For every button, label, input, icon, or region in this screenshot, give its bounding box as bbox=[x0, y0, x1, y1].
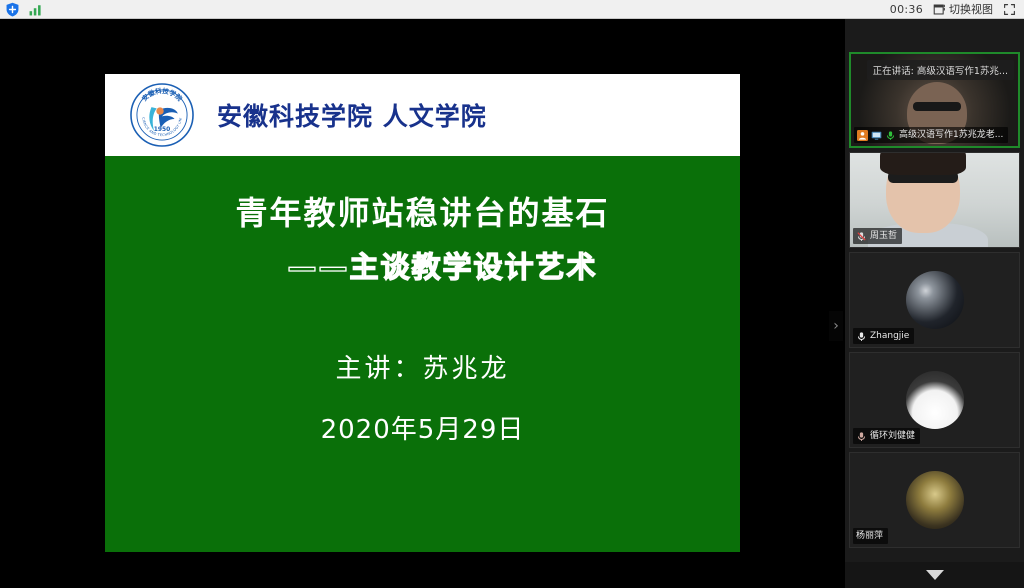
participant-name: 高级汉语写作1苏兆龙老... bbox=[899, 129, 1003, 141]
signal-bars-icon[interactable] bbox=[27, 1, 44, 18]
security-shield-icon[interactable] bbox=[4, 1, 21, 18]
participant-name: 杨丽萍 bbox=[856, 530, 883, 542]
layout-icon bbox=[933, 3, 946, 16]
avatar bbox=[906, 371, 964, 429]
participant-tile[interactable]: Zhangjie bbox=[849, 252, 1020, 348]
screen-share-icon bbox=[871, 130, 882, 141]
speaking-tooltip: 正在讲话: 高级汉语写作1苏兆... bbox=[867, 60, 1014, 80]
top-bar-right-controls: 00:36 切换视图 bbox=[890, 1, 1024, 17]
participant-hair bbox=[880, 152, 966, 175]
top-bar-left-icons bbox=[0, 1, 44, 18]
slide-title: 青年教师站稳讲台的基石 bbox=[235, 194, 609, 232]
participant-name: 周玉哲 bbox=[870, 230, 897, 242]
slide-org-name: 安徽科技学院 人文学院 bbox=[217, 97, 487, 133]
switch-view-button[interactable]: 切换视图 bbox=[933, 1, 993, 17]
filmstrip-scroll-down-button[interactable] bbox=[845, 562, 1024, 588]
mic-muted-icon bbox=[856, 331, 867, 342]
fullscreen-icon[interactable] bbox=[1003, 3, 1016, 16]
slide-subtitle: ——主谈教学设计艺术 bbox=[247, 244, 597, 286]
university-emblem-icon: 安徽科技学院 ANHUI SCIENCE AND TECHNOLOGY UNIV… bbox=[129, 82, 195, 148]
shared-screen-stage: 安徽科技学院 ANHUI SCIENCE AND TECHNOLOGY UNIV… bbox=[0, 19, 845, 588]
slide-date: 2020年5月29日 bbox=[321, 409, 525, 446]
meeting-timer: 00:36 bbox=[890, 3, 923, 16]
participant-label: 杨丽萍 bbox=[853, 528, 888, 544]
participant-name: 循环刘健健 bbox=[870, 430, 915, 442]
participant-tile[interactable]: 循环刘健健 bbox=[849, 352, 1020, 448]
avatar bbox=[906, 271, 964, 329]
avatar bbox=[906, 471, 964, 529]
slide-header: 安徽科技学院 ANHUI SCIENCE AND TECHNOLOGY UNIV… bbox=[105, 74, 740, 156]
mic-muted-icon bbox=[856, 231, 867, 242]
chevron-down-icon bbox=[926, 570, 944, 580]
participant-label: 高级汉语写作1苏兆龙老... bbox=[854, 127, 1008, 143]
university-logo: 安徽科技学院 ANHUI SCIENCE AND TECHNOLOGY UNIV… bbox=[129, 82, 195, 148]
switch-view-label: 切换视图 bbox=[949, 1, 993, 17]
slide-speaker: 主讲：苏兆龙 bbox=[335, 348, 509, 385]
participant-label: 周玉哲 bbox=[853, 228, 902, 244]
collapse-panel-button[interactable]: › bbox=[829, 311, 843, 341]
slide-body: 青年教师站稳讲台的基石 ——主谈教学设计艺术 主讲：苏兆龙 2020年5月29日 bbox=[105, 156, 740, 552]
svg-text:1950: 1950 bbox=[154, 126, 171, 133]
mic-muted-icon bbox=[856, 431, 867, 442]
participant-label: 循环刘健健 bbox=[853, 428, 920, 444]
presentation-slide: 安徽科技学院 ANHUI SCIENCE AND TECHNOLOGY UNIV… bbox=[105, 74, 740, 552]
participant-tile[interactable]: 高级汉语写作1苏兆龙老... 正在讲话: 高级汉语写作1苏兆... bbox=[849, 52, 1020, 148]
meeting-window: 00:36 切换视图 bbox=[0, 0, 1024, 588]
host-icon bbox=[857, 130, 868, 141]
participant-tile[interactable]: 杨丽萍 bbox=[849, 452, 1020, 548]
participant-filmstrip[interactable]: 高级汉语写作1苏兆龙老... 正在讲话: 高级汉语写作1苏兆... 周玉哲 bbox=[845, 19, 1024, 588]
top-bar: 00:36 切换视图 bbox=[0, 0, 1024, 19]
participant-tile[interactable]: 周玉哲 bbox=[849, 152, 1020, 248]
participant-name: Zhangjie bbox=[870, 330, 909, 342]
mic-active-icon bbox=[885, 130, 896, 141]
participant-label: Zhangjie bbox=[853, 328, 914, 344]
